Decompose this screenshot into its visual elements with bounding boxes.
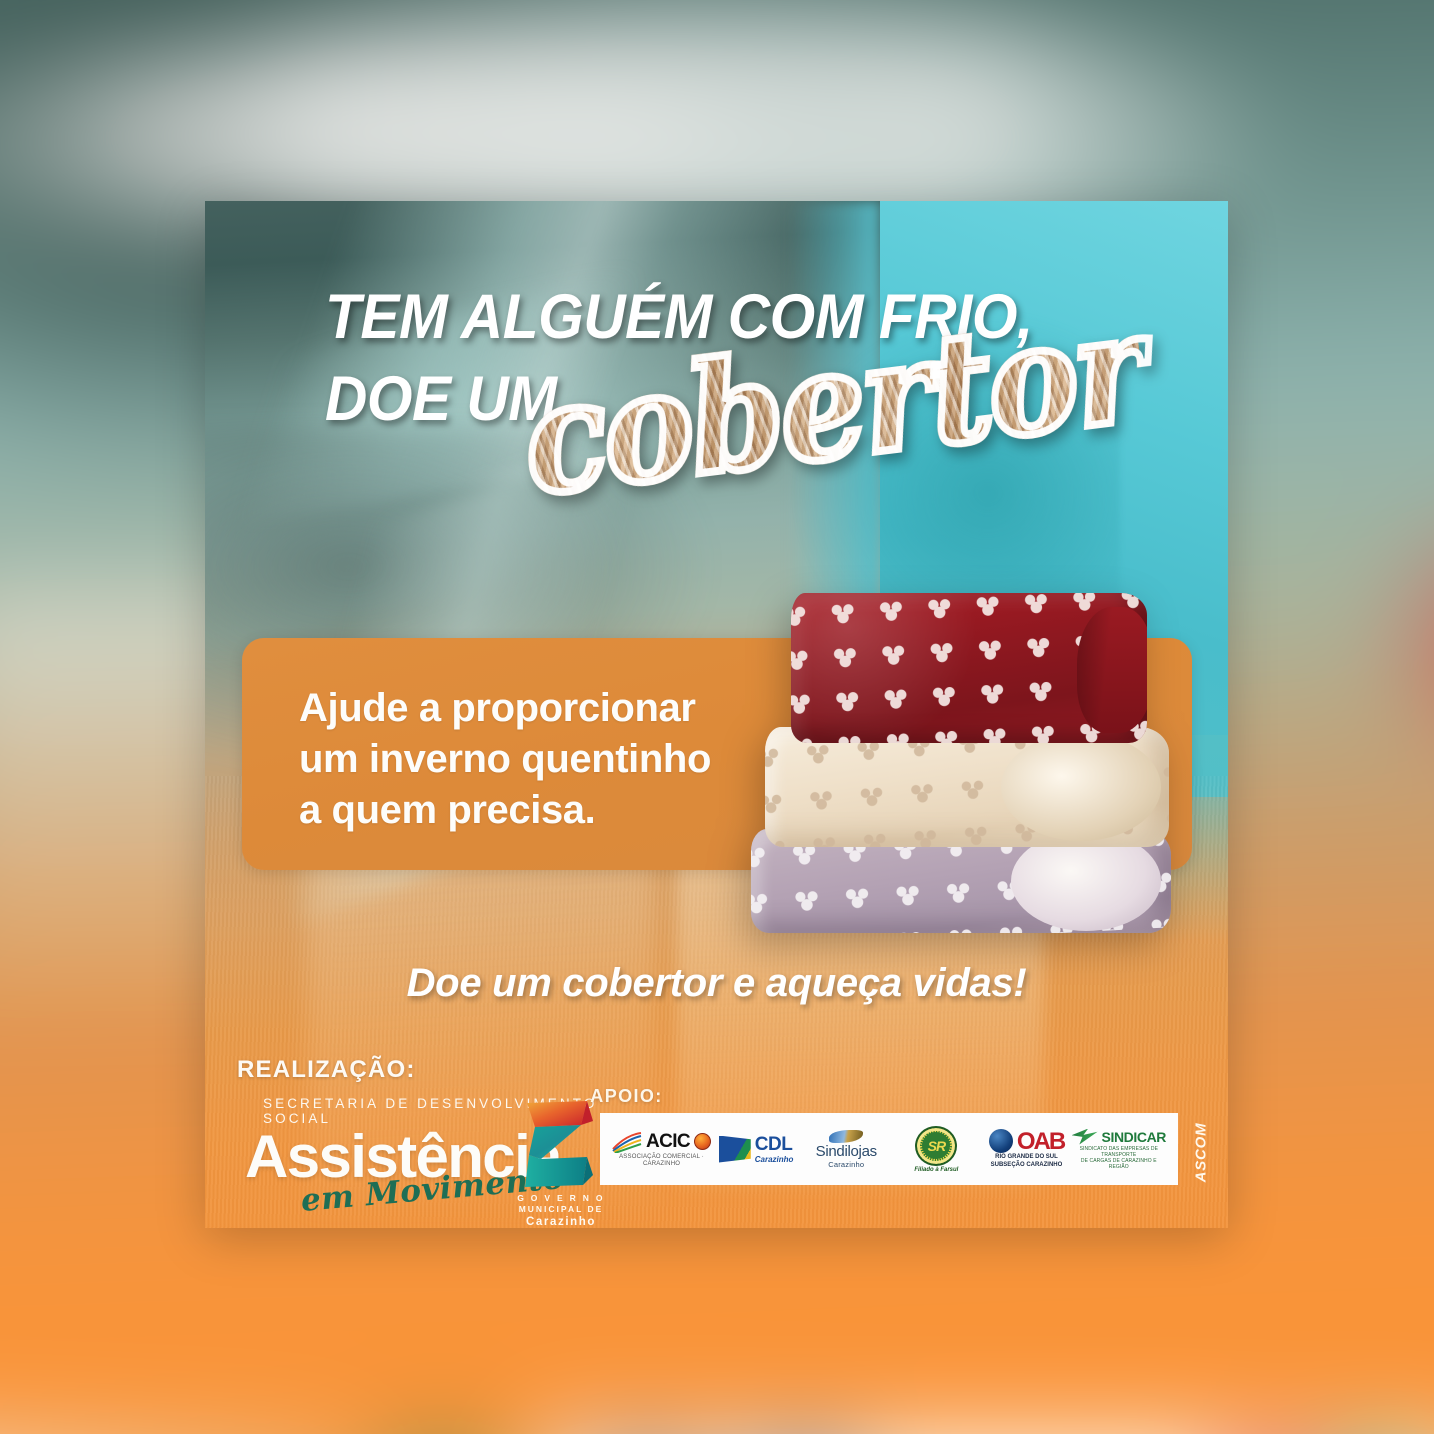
cdl-mark-icon (719, 1136, 751, 1163)
acic-subtitle: ASSOCIAÇÃO COMERCIAL · CARAZINHO (612, 1154, 711, 1168)
poster-card: TEM ALGUÉM COM FRIO, DOE UM cobertor Aju… (205, 201, 1228, 1228)
sindicar-wordmark: SINDICAR (1102, 1130, 1166, 1144)
logo-sr: SR Filiado à Farsul (891, 1126, 981, 1173)
blanket-stack-image (745, 581, 1205, 941)
cdl-wordmark: CDL (755, 1134, 793, 1155)
backdrop-shape-blanket (1359, 509, 1434, 769)
apoio-label: APOIO: (417, 1086, 1017, 1107)
acic-wordmark: ACIC (646, 1131, 690, 1153)
tagline: Doe um cobertor e aqueça vidas! (205, 961, 1228, 1006)
ascom-credit: ASCOM (1186, 1106, 1216, 1198)
sindilojas-wordmark: Sindilojas (816, 1144, 877, 1159)
oab-subtitle: RIO GRANDE DO SUL SUBSEÇÃO CARAZINHO (991, 1154, 1063, 1168)
cdl-subtitle: Carazinho (755, 1155, 794, 1164)
oab-globe-icon (989, 1129, 1013, 1153)
supporter-logo-band: ACIC ASSOCIAÇÃO COMERCIAL · CARAZINHO CD… (600, 1113, 1178, 1185)
governo-line-1: G O V E R N O (505, 1193, 617, 1204)
governo-text-block: G O V E R N O MUNICIPAL DE Carazinho (505, 1193, 617, 1228)
realizacao-label: REALIZAÇÃO: (237, 1056, 416, 1084)
blanket-middle-cream (765, 727, 1169, 847)
logo-cdl: CDL Carazinho (711, 1135, 801, 1164)
sr-seal-icon: SR (915, 1126, 957, 1166)
sindicar-subtitle: SINDICATO DAS EMPRESAS DE TRANSPORTE DE … (1072, 1146, 1166, 1170)
logo-acic: ACIC ASSOCIAÇÃO COMERCIAL · CARAZINHO (612, 1131, 711, 1168)
oab-wordmark: OAB (1017, 1131, 1064, 1153)
governo-line-2: MUNICIPAL DE (505, 1204, 617, 1215)
governo-line-3: Carazinho (505, 1215, 617, 1228)
sindilojas-subtitle: Carazinho (828, 1160, 864, 1169)
acic-ball-icon (694, 1133, 711, 1150)
logo-sindilojas: Sindilojas Carazinho (801, 1130, 891, 1169)
blanket-roll (1001, 733, 1161, 841)
sindilojas-swoosh-icon (829, 1130, 863, 1143)
backdrop-shape-emblem (367, 1417, 523, 1434)
ascom-label: ASCOM (1193, 1122, 1210, 1182)
blanket-top-red (791, 593, 1147, 743)
sr-wordmark: SR (922, 1132, 950, 1159)
sr-subtitle: Filiado à Farsul (914, 1167, 958, 1173)
logo-oab: OAB RIO GRANDE DO SUL SUBSEÇÃO CARAZINHO (981, 1129, 1071, 1168)
ribbon-icon (519, 1099, 597, 1191)
logo-sindicar: SINDICAR SINDICATO DAS EMPRESAS DE TRANS… (1072, 1129, 1166, 1170)
sindicar-arrow-icon (1072, 1129, 1098, 1145)
message-text: Ajude a proporcionar um inverno quentinh… (299, 683, 711, 837)
acic-swoosh-icon (612, 1131, 642, 1153)
blanket-roll (1077, 607, 1147, 733)
